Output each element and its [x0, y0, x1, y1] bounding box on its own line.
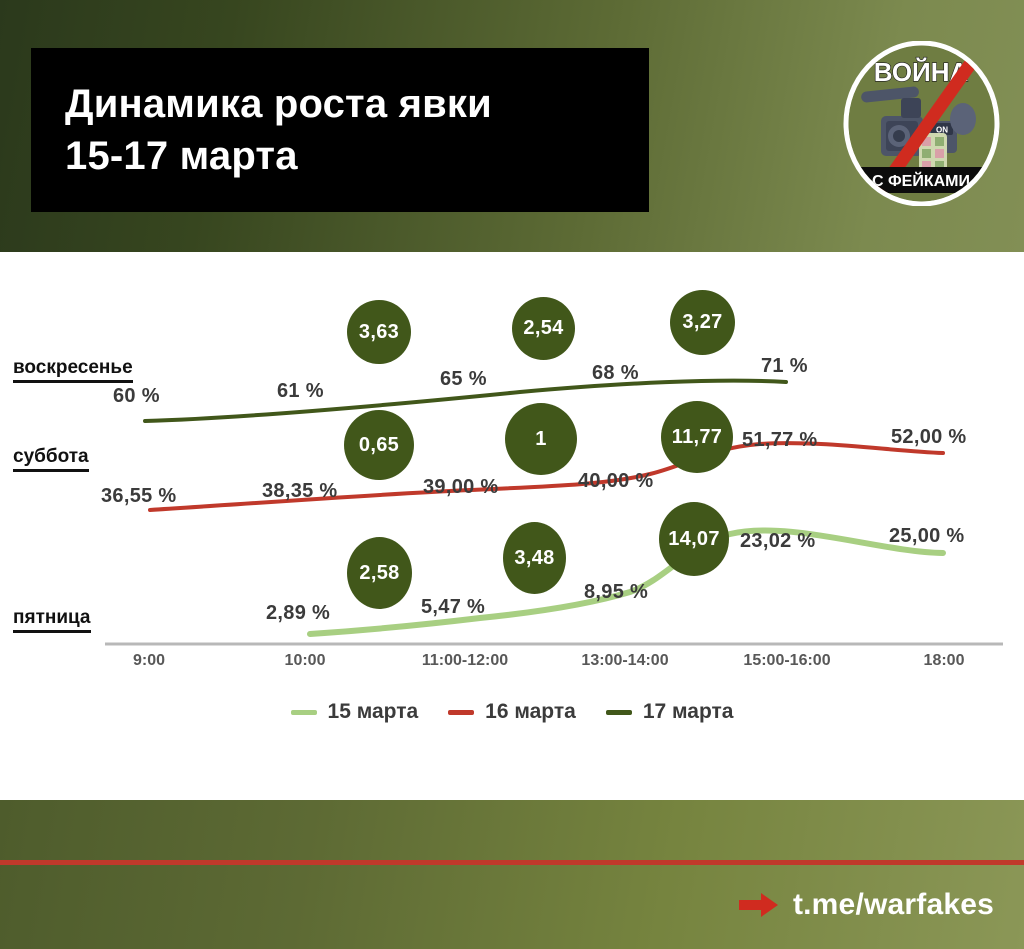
- arrow-right-icon: [739, 892, 779, 918]
- delta-bubble-15-1314: 3,48: [503, 522, 566, 594]
- value-label-16-10: 38,35 %: [262, 480, 338, 503]
- row-label-sunday: воскресенье: [13, 357, 133, 383]
- legend-item-16-marta[interactable]: 16 марта: [448, 700, 576, 724]
- delta-bubble-17-1112: 3,63: [347, 300, 411, 364]
- legend-swatch-icon: [606, 710, 632, 715]
- xtick-4: 15:00-16:00: [743, 652, 830, 670]
- legend-swatch-icon: [291, 710, 317, 715]
- telegram-link[interactable]: t.me/warfakes: [739, 888, 994, 922]
- value-label-17-9: 60 %: [113, 385, 160, 408]
- footer-banner: t.me/warfakes: [0, 800, 1024, 949]
- row-label-friday: пятница: [13, 607, 91, 633]
- xtick-1: 10:00: [285, 652, 326, 670]
- legend-swatch-icon: [448, 710, 474, 715]
- value-label-15-1112: 5,47 %: [421, 596, 485, 619]
- delta-bubble-16-1314: 1: [505, 403, 577, 475]
- legend-label: 16 марта: [485, 700, 576, 724]
- xtick-3: 13:00-14:00: [581, 652, 668, 670]
- value-label-17-1314: 68 %: [592, 362, 639, 385]
- delta-bubble-17-1314: 2,54: [512, 297, 575, 360]
- delta-bubble-16-1112: 0,65: [344, 410, 414, 480]
- xtick-5: 18:00: [924, 652, 965, 670]
- xtick-2: 11:00-12:00: [422, 652, 508, 670]
- logo-bottom-text: С ФЕЙКАМИ: [872, 171, 970, 190]
- value-label-17-10: 61 %: [277, 380, 324, 403]
- legend-label: 15 марта: [328, 700, 419, 724]
- warfakes-logo: ON ВОЙНА: [843, 41, 1000, 206]
- page-title-line-1: Динамика роста явки: [31, 78, 649, 130]
- value-label-16-18: 52,00 %: [891, 426, 967, 449]
- value-label-17-1516: 71 %: [761, 355, 808, 378]
- legend-item-15-marta[interactable]: 15 марта: [291, 700, 419, 724]
- chart-legend: 15 марта 16 марта 17 марта: [0, 700, 1024, 724]
- value-label-16-9: 36,55 %: [101, 485, 177, 508]
- value-label-16-1516: 51,77 %: [742, 429, 818, 452]
- page-title-line-2: 15-17 марта: [31, 130, 649, 182]
- value-label-16-1112: 39,00 %: [423, 476, 499, 499]
- header-banner: Динамика роста явки 15-17 марта: [0, 0, 1024, 252]
- footer-divider: [0, 860, 1024, 865]
- value-label-15-1516: 23,02 %: [740, 530, 816, 553]
- delta-bubble-16-1516: 11,77: [661, 401, 733, 473]
- xtick-0: 9:00: [133, 652, 165, 670]
- footer-url-text: t.me/warfakes: [793, 888, 994, 922]
- value-label-16-1314: 40,00 %: [578, 470, 654, 493]
- title-box: Динамика роста явки 15-17 марта: [31, 48, 649, 212]
- legend-item-17-marta[interactable]: 17 марта: [606, 700, 734, 724]
- value-label-15-10: 2,89 %: [266, 602, 330, 625]
- delta-bubble-17-1516: 3,27: [670, 290, 735, 355]
- delta-bubble-15-1516: 14,07: [659, 502, 729, 576]
- legend-label: 17 марта: [643, 700, 734, 724]
- value-label-15-18: 25,00 %: [889, 525, 965, 548]
- infographic-page: Динамика роста явки 15-17 марта: [0, 0, 1024, 949]
- row-label-saturday: суббота: [13, 446, 89, 472]
- value-label-15-1314: 8,95 %: [584, 581, 648, 604]
- value-label-17-1112: 65 %: [440, 368, 487, 391]
- delta-bubble-15-1112: 2,58: [347, 537, 412, 609]
